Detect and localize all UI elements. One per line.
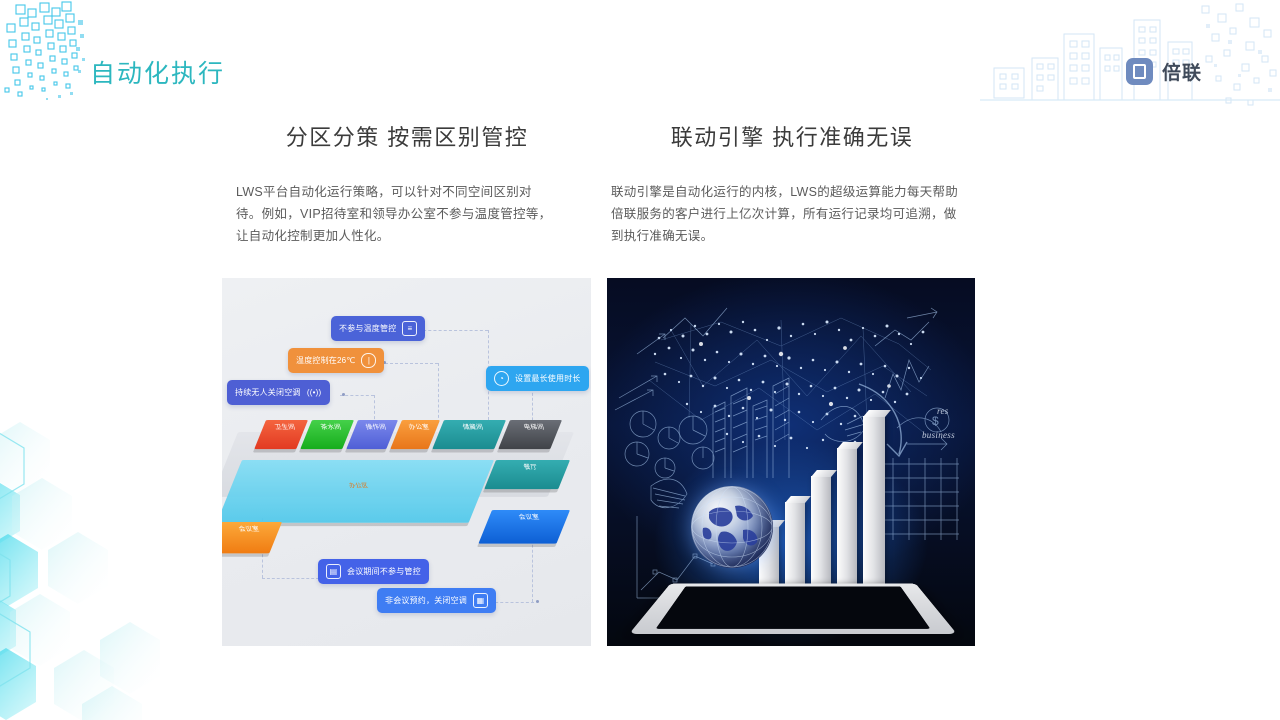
column-right-heading: 联动引擎 执行准确无误 [607, 120, 977, 152]
clock-timer-icon: ◔ [494, 371, 509, 386]
badge-label: 设置最长使用时长 [515, 373, 581, 384]
column-left-body: LWS平台自动化运行策略，可以针对不同空间区别对待。例如，VIP招待室和领导办公… [222, 182, 592, 248]
globe-icon [691, 486, 773, 568]
badge-max-duration[interactable]: ◔ 设置最长使用时长 [486, 366, 589, 391]
connector-line [380, 363, 438, 364]
connector-line [490, 602, 534, 603]
column-left-heading: 分区分策 按需区别管控 [222, 120, 592, 152]
badge-label: 非会议预约，关闭空调 [385, 595, 467, 606]
connector-line [418, 330, 488, 331]
data-engine-image: $ res business [607, 278, 975, 646]
badge-no-temperature-control[interactable]: 不参与温度管控 ≡ [331, 316, 425, 341]
sketch-word: res [937, 406, 949, 416]
room-block[interactable]: 餐厅 [484, 460, 570, 489]
person-sensor-icon: ((•)) [307, 385, 322, 400]
badge-no-booking-off[interactable]: 非会议预约，关闭空调 ▦ [377, 588, 496, 613]
brand-mark-icon [1126, 58, 1153, 85]
badge-label: 温度控制在26℃ [296, 355, 355, 366]
document-list-icon: ≡ [402, 321, 417, 336]
badge-label: 不参与温度管控 [339, 323, 396, 334]
pixel-dissolve-decoration-icon [0, 0, 95, 105]
room-block[interactable]: 会议室 [222, 522, 282, 553]
badge-label: 会议期间不参与管控 [347, 566, 421, 577]
calendar-check-icon: ▦ [473, 593, 488, 608]
column-right-body: 联动引擎是自动化运行的内核，LWS的超级运算能力每天帮助倍联服务的客户进行上亿次… [607, 182, 977, 248]
column-left: 分区分策 按需区别管控 LWS平台自动化运行策略，可以针对不同空间区别对待。例如… [222, 120, 592, 248]
room-block-open-office[interactable]: 办公区 [222, 460, 494, 523]
connector-line [262, 578, 324, 579]
badge-auto-off-when-empty[interactable]: 持续无人关闭空调 ((•)) [227, 380, 330, 405]
column-right: 联动引擎 执行准确无误 联动引擎是自动化运行的内核，LWS的超级运算能力每天帮助… [607, 120, 977, 248]
badge-meeting-exempt[interactable]: ▤ 会议期间不参与管控 [318, 559, 429, 584]
badge-label: 持续无人关闭空调 [235, 387, 301, 398]
connector-line [340, 395, 374, 396]
meeting-room-icon: ▤ [326, 564, 341, 579]
floorplan-infographic-image: 不参与温度管控 ≡ 温度控制在26℃ | 持续无人关闭空调 ((•)) ◔ 设置… [222, 278, 591, 646]
tablet-device [629, 506, 957, 634]
page-title: 自动化执行 [90, 54, 225, 90]
brand-name: 倍联 [1162, 58, 1202, 85]
brand-logo[interactable]: 倍联 [1126, 58, 1202, 85]
hexagon-pattern-decoration-icon [0, 400, 220, 720]
connector-line [438, 363, 439, 423]
floorplan-3d: 卫生间 茶水间 操作间 办公室 储藏间 电梯间 餐厅 会议室 办公区 会议室 [234, 420, 579, 555]
room-block[interactable]: 储藏间 [432, 420, 506, 449]
thermometer-icon: | [361, 353, 376, 368]
slide-root: 自动化执行 倍联 分区分策 按需区别管控 LWS平台自动化运行策略，可以针对不同… [0, 0, 1280, 720]
room-block[interactable]: 会议室 [478, 510, 570, 544]
badge-temperature-26[interactable]: 温度控制在26℃ | [288, 348, 384, 373]
